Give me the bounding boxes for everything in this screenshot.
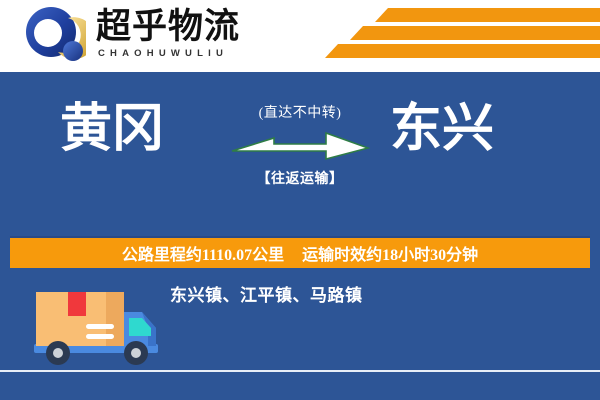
duration-text: 运输时效约18小时30分钟	[302, 241, 478, 265]
double-headed-arrow-icon	[225, 126, 375, 166]
stripe-2	[350, 26, 600, 40]
route-info-bar: 公路里程约1110.07公里 运输时效约18小时30分钟	[10, 236, 590, 268]
brand-header: 超乎物流 CHAOHUWULIU	[0, 0, 600, 72]
brand-name-en: CHAOHUWULIU	[96, 48, 240, 59]
stripe-3	[325, 44, 600, 58]
destination-city: 东兴	[390, 100, 494, 160]
brand-logo: 超乎物流 CHAOHUWULIU	[24, 6, 240, 64]
route-middle: (直达不中转) 【往返运输】	[225, 102, 375, 188]
delivery-truck-icon	[28, 276, 168, 376]
origin-city: 黄冈	[60, 100, 164, 160]
direct-note: (直达不中转)	[225, 102, 375, 122]
decorative-stripes	[310, 8, 600, 68]
brand-name-cn: 超乎物流	[96, 8, 240, 46]
roundtrip-note: 【往返运输】	[225, 168, 375, 188]
stripe-1	[375, 8, 600, 22]
coverage-towns: 东兴镇、江平镇、马路镇	[170, 281, 363, 306]
circle-crescent-logo-icon	[24, 6, 86, 64]
logistics-route-banner: 超乎物流 CHAOHUWULIU 黄冈 (直达不中转) 【往返运输】 东兴	[0, 0, 600, 400]
distance-text: 公路里程约1110.07公里	[122, 241, 284, 265]
route-band: 黄冈 (直达不中转) 【往返运输】 东兴	[0, 72, 600, 232]
footer-divider	[0, 370, 600, 372]
